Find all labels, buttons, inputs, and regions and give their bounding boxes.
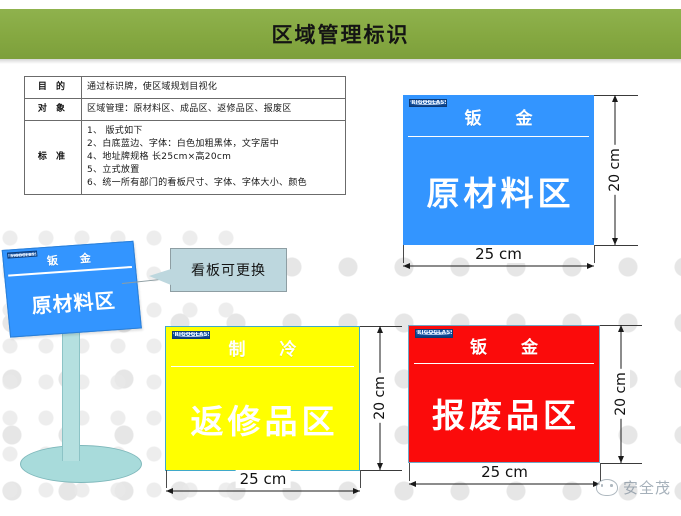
dimension-height-blue: 20 cm xyxy=(600,95,630,245)
arrow-left-icon xyxy=(409,481,416,487)
dimension-label-width-yellow: 25 cm xyxy=(236,470,291,488)
sign-header-blue: FRIGOGLASS 钣 金 xyxy=(403,95,594,137)
sign-body-text-red: 报废品区 xyxy=(428,389,580,437)
banner-shadow xyxy=(0,59,681,64)
arrow-up-icon xyxy=(618,325,624,332)
arrow-right-icon xyxy=(587,263,594,269)
standard-line: 4、地址牌规格 长25cm×高20cm xyxy=(87,151,340,164)
logo-label: FRIGOGLASS xyxy=(415,330,453,337)
pole-stem xyxy=(62,321,80,461)
arrow-down-icon xyxy=(618,456,624,463)
sign-body-text-pole: 原材料区 xyxy=(29,285,117,320)
sign-body-blue: 原材料区 xyxy=(403,137,594,245)
page-title: 区域管理标识 xyxy=(272,19,410,49)
dimension-label-height-yellow: 20 cm xyxy=(371,373,389,423)
dimension-label-height-red: 20 cm xyxy=(612,369,630,419)
slide-root: 区域管理标识 目 的 通过标识牌，使区域规划目视化 对 象 区域管理：原材料区、… xyxy=(0,0,681,516)
frigoglass-logo-icon: FRIGOGLASS xyxy=(415,329,453,337)
callout-text: 看板可更换 xyxy=(191,260,266,280)
table-row: 目 的 通过标识牌，使区域规划目视化 xyxy=(25,77,346,99)
frigoglass-logo-icon: FRIGOGLASS xyxy=(7,251,38,259)
extension-line xyxy=(600,463,642,464)
dimension-line xyxy=(409,484,600,485)
sign-header-text-pole: 钣 金 xyxy=(37,249,100,269)
sign-body-red: 报废品区 xyxy=(409,364,599,462)
dimension-line xyxy=(403,266,594,267)
standard-line: 2、白底蓝边、字体：白色加粗黑体，文字居中 xyxy=(87,138,340,151)
logo-label: FRIGOGLASS xyxy=(409,100,447,107)
pole-base xyxy=(20,445,142,483)
arrow-down-icon xyxy=(612,238,618,245)
sign-header-text-blue: 钣 金 xyxy=(451,104,547,129)
table-row: 对 象 区域管理：原材料区、成品区、返修品区、报废区 xyxy=(25,99,346,121)
dimension-height-red: 20 cm xyxy=(606,325,636,463)
sign-body-text-blue: 原材料区 xyxy=(423,167,575,215)
logo-label: FRIGOGLASS xyxy=(7,251,38,259)
callout-box: 看板可更换 xyxy=(170,248,287,292)
dimension-label-width-red: 25 cm xyxy=(477,463,532,481)
callout-tail xyxy=(149,269,171,285)
arrow-right-icon xyxy=(353,488,360,494)
watermark-logo-icon xyxy=(596,479,618,496)
standard-line: 5、立式放置 xyxy=(87,164,340,177)
row-label-standard: 标 准 xyxy=(25,121,82,195)
extension-line xyxy=(360,470,402,471)
sign-divider xyxy=(408,136,589,138)
sign-board-red: FRIGOGLASS 钣 金 报废品区 xyxy=(408,325,600,463)
sign-divider xyxy=(414,363,595,365)
watermark: 安全茂 xyxy=(596,477,671,498)
extension-line xyxy=(594,245,638,246)
row-label-object: 对 象 xyxy=(25,99,82,121)
frigoglass-logo-icon: FRIGOGLASS xyxy=(409,99,447,108)
dimension-width-blue: 25 cm xyxy=(403,244,594,274)
spec-table: 目 的 通过标识牌，使区域规划目视化 对 象 区域管理：原材料区、成品区、返修品… xyxy=(24,76,346,195)
standard-line: 1、 版式如下 xyxy=(87,125,340,138)
arrow-down-icon xyxy=(377,463,383,470)
row-value-purpose: 通过标识牌，使区域规划目视化 xyxy=(82,77,346,99)
dimension-label-width-blue: 25 cm xyxy=(471,245,526,263)
watermark-text: 安全茂 xyxy=(623,477,671,498)
dimension-label-height-blue: 20 cm xyxy=(606,145,624,195)
sign-body-text-yellow: 返修品区 xyxy=(187,395,339,443)
dimension-height-yellow: 20 cm xyxy=(365,326,395,470)
arrow-left-icon xyxy=(403,263,410,269)
sign-board-blue: FRIGOGLASS 钣 金 原材料区 xyxy=(403,95,594,245)
extension-line xyxy=(594,245,595,263)
standard-line: 6、统一所有部门的看板尺寸、字体、字体大小、颜色 xyxy=(87,177,340,190)
arrow-up-icon xyxy=(377,326,383,333)
row-value-object: 区域管理：原材料区、成品区、返修品区、报废区 xyxy=(82,99,346,121)
arrow-up-icon xyxy=(612,95,618,102)
sign-header-text-red: 钣 金 xyxy=(456,333,552,358)
row-value-standard: 1、 版式如下 2、白底蓝边、字体：白色加粗黑体，文字居中 4、地址牌规格 长2… xyxy=(82,121,346,195)
sign-board-pole: FRIGOGLASS 钣 金 原材料区 xyxy=(2,241,142,338)
sign-header-red: FRIGOGLASS 钣 金 xyxy=(409,326,599,364)
row-label-purpose: 目 的 xyxy=(25,77,82,99)
dimension-width-red: 25 cm xyxy=(409,462,600,492)
extension-line xyxy=(360,470,361,488)
sign-body-pole: 原材料区 xyxy=(5,268,140,337)
table-row: 标 准 1、 版式如下 2、白底蓝边、字体：白色加粗黑体，文字居中 4、地址牌规… xyxy=(25,121,346,195)
sign-header-text-yellow: 制 冷 xyxy=(215,335,311,360)
header-banner: 区域管理标识 xyxy=(0,9,681,59)
